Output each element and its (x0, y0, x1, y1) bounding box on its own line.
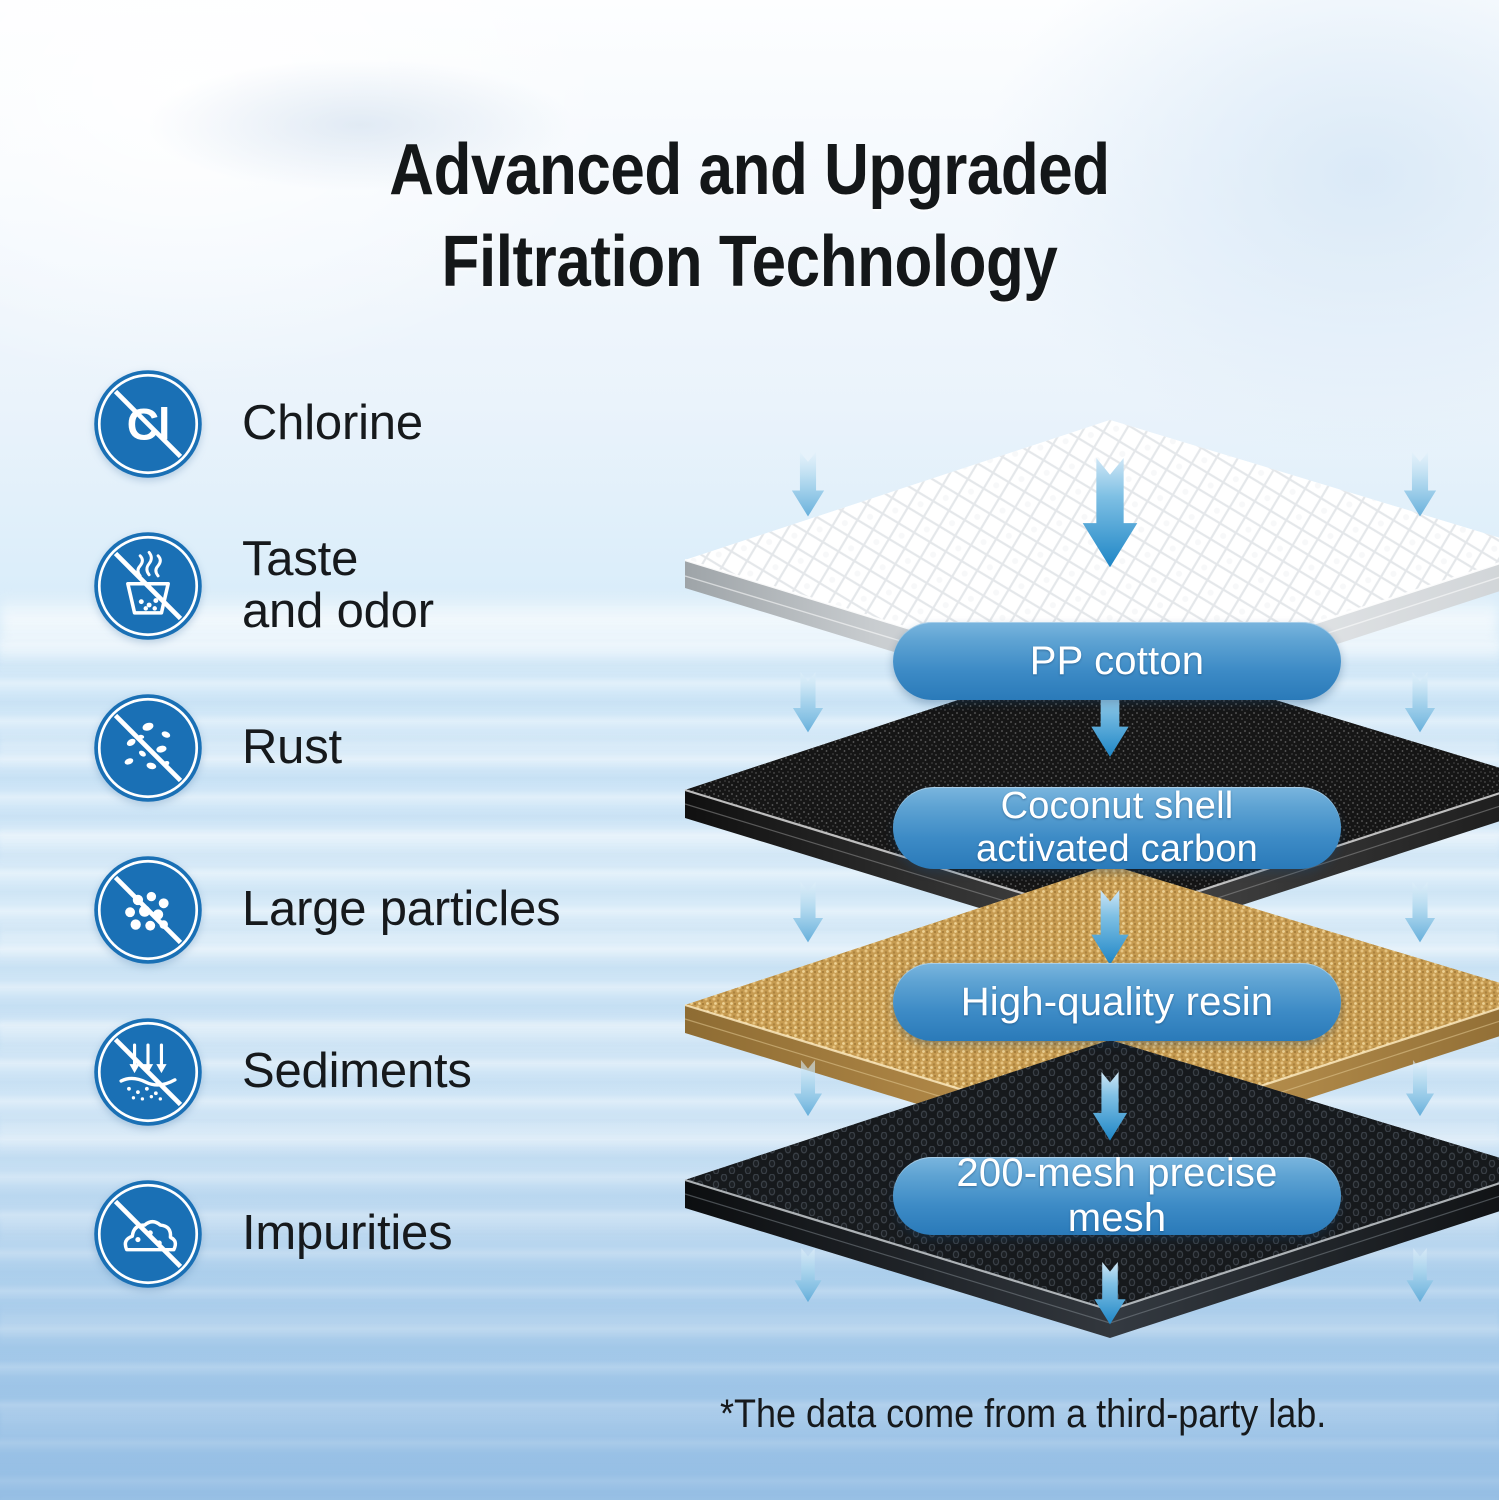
layer-slab-precise-mesh (640, 1020, 1499, 1500)
feature-item-sediments: Sediments (92, 1016, 652, 1128)
no-chlorine-icon: Cl (92, 368, 204, 480)
filtration-infographic: Advanced and Upgraded Filtration Technol… (0, 0, 1499, 1500)
layer-label-activated-carbon: Coconut shell activated carbon (893, 787, 1341, 869)
feature-item-impurities: Impurities (92, 1178, 652, 1290)
feature-item-large-particles: Large particles (92, 854, 652, 966)
layer-label-precise-mesh: 200-mesh precise mesh (893, 1157, 1341, 1235)
feature-label: Rust (242, 722, 342, 774)
feature-label: Large particles (242, 884, 560, 936)
no-taste-and-odor-icon (92, 530, 204, 642)
feature-label: Chlorine (242, 398, 423, 450)
feature-label: Impurities (242, 1208, 452, 1260)
feature-label: Taste and odor (242, 534, 434, 638)
layer-label-resin: High-quality resin (893, 963, 1341, 1041)
no-rust-icon (92, 692, 204, 804)
no-large-particles-icon (92, 854, 204, 966)
filtration-feature-list: Cl Chlorine (92, 368, 652, 1290)
layer-label-pp-cotton: PP cotton (893, 622, 1341, 700)
feature-item-rust: Rust (92, 692, 652, 804)
no-sediments-icon (92, 1016, 204, 1128)
feature-item-taste-and-odor: Taste and odor (92, 530, 652, 642)
page-title: Advanced and Upgraded Filtration Technol… (105, 124, 1394, 308)
feature-item-chlorine: Cl Chlorine (92, 368, 652, 480)
feature-label: Sediments (242, 1046, 472, 1098)
no-impurities-icon (92, 1178, 204, 1290)
